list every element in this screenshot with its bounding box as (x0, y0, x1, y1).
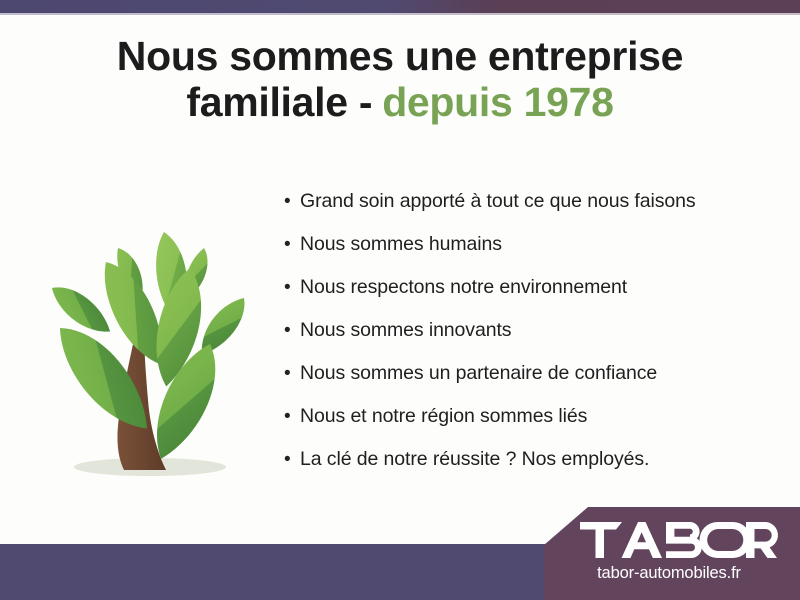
page-title: Nous sommes une entreprise familiale -de… (0, 34, 800, 126)
list-item-label: Nous sommes un partenaire de confiance (300, 362, 657, 385)
slide-canvas: Nous sommes une entreprise familiale -de… (0, 0, 800, 600)
list-item: • Nous et notre région sommes liés (284, 405, 784, 448)
list-item-label: Grand soin apporté à tout ce que nous fa… (300, 190, 696, 213)
title-line-2-plain: familiale - (186, 79, 372, 125)
bullet-marker-icon: • (284, 235, 300, 254)
list-item: • Grand soin apporté à tout ce que nous … (284, 190, 784, 233)
bullet-list: • Grand soin apporté à tout ce que nous … (284, 190, 784, 491)
title-line-2: familiale -depuis 1978 (0, 80, 800, 126)
bullet-marker-icon: • (284, 278, 300, 297)
bullet-marker-icon: • (284, 407, 300, 426)
tabor-wordmark-logo (578, 520, 778, 560)
bullet-marker-icon: • (284, 321, 300, 340)
bullet-marker-icon: • (284, 192, 300, 211)
list-item: • Nous sommes innovants (284, 319, 784, 362)
logo-panel-inner: tabor-automobiles.fr (544, 507, 800, 600)
list-item-label: Nous et notre région sommes liés (300, 405, 587, 428)
top-decorative-band (0, 0, 800, 13)
title-line-2-accent: depuis 1978 (382, 79, 613, 125)
list-item: • La clé de notre réussite ? Nos employé… (284, 448, 784, 491)
list-item-label: Nous sommes humains (300, 233, 502, 256)
list-item-label: Nous respectons notre environnement (300, 276, 627, 299)
logo-website-url: tabor-automobiles.fr (544, 564, 800, 583)
list-item-label: La clé de notre réussite ? Nos employés. (300, 448, 649, 471)
top-band-hairline (0, 13, 800, 15)
tree-illustration (14, 186, 276, 486)
list-item: • Nous sommes humains (284, 233, 784, 276)
bullet-marker-icon: • (284, 450, 300, 469)
logo-panel: tabor-automobiles.fr (544, 507, 800, 600)
list-item: • Nous sommes un partenaire de confiance (284, 362, 784, 405)
list-item-label: Nous sommes innovants (300, 319, 511, 342)
list-item: • Nous respectons notre environnement (284, 276, 784, 319)
bullet-marker-icon: • (284, 364, 300, 383)
title-line-1: Nous sommes une entreprise (0, 34, 800, 80)
